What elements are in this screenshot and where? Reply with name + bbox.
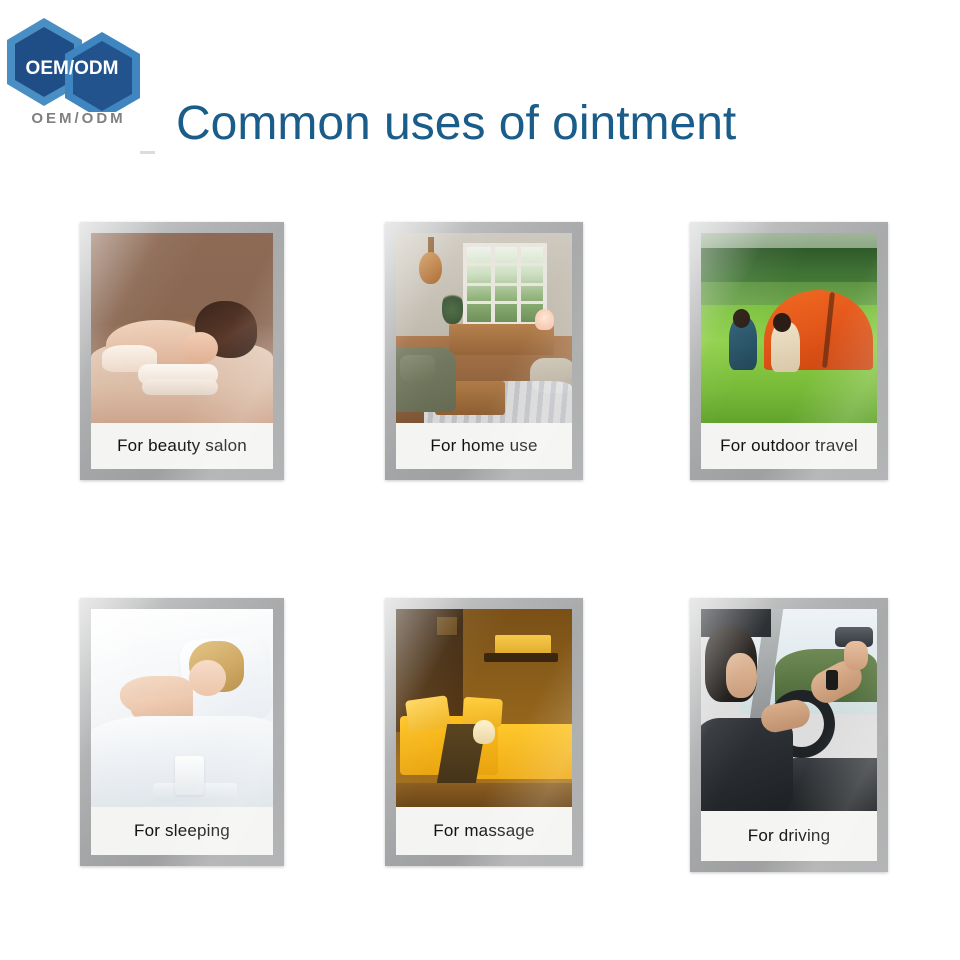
- card-caption: For sleeping: [91, 807, 273, 855]
- photo-living-room: [396, 233, 572, 423]
- card-inner: For beauty salon: [91, 233, 273, 469]
- card-massage[interactable]: For massage: [385, 598, 583, 866]
- card-caption: For massage: [396, 807, 572, 855]
- photo-massage-room-beds: [396, 609, 572, 807]
- card-sleeping[interactable]: For sleeping: [80, 598, 284, 866]
- photo-woman-sleeping-bed: [91, 609, 273, 807]
- card-beauty-salon[interactable]: For beauty salon: [80, 222, 284, 480]
- card-inner: For sleeping: [91, 609, 273, 855]
- card-inner: For home use: [396, 233, 572, 469]
- card-inner: For driving: [701, 609, 877, 861]
- card-home-use[interactable]: For home use: [385, 222, 583, 480]
- card-inner: For massage: [396, 609, 572, 855]
- card-driving[interactable]: For driving: [690, 598, 888, 872]
- card-caption: For driving: [701, 811, 877, 861]
- slide-canvas: OEM/ODM OEM/ODM Common uses of ointment: [0, 0, 960, 960]
- card-outdoor-travel[interactable]: For outdoor travel: [690, 222, 888, 480]
- card-caption: For outdoor travel: [701, 423, 877, 469]
- card-caption: For beauty salon: [91, 423, 273, 469]
- photo-camping-tent: [701, 233, 877, 423]
- card-inner: For outdoor travel: [701, 233, 877, 469]
- photo-man-driving-car: [701, 609, 877, 811]
- card-grid: For beauty salon: [0, 0, 960, 960]
- card-caption: For home use: [396, 423, 572, 469]
- photo-spa-massage-woman: [91, 233, 273, 423]
